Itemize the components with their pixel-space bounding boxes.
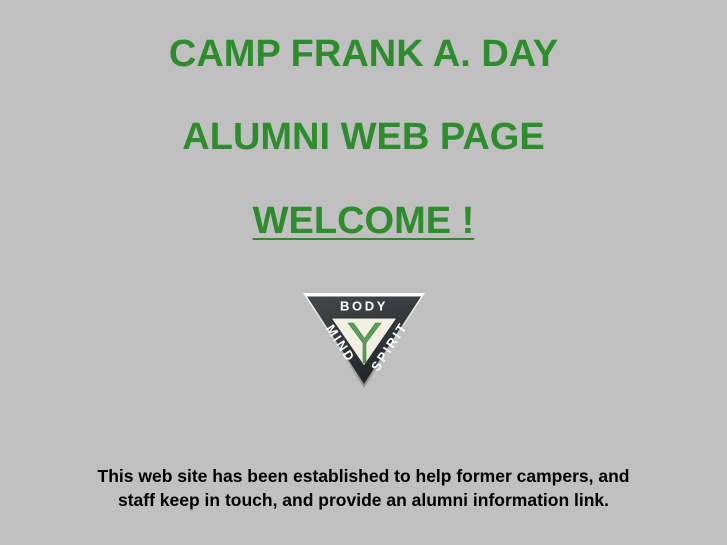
intro-paragraph-line-2: staff keep in touch, and provide an alum… bbox=[0, 488, 727, 512]
intro-paragraph-line-1: This web site has been established to he… bbox=[0, 464, 727, 488]
logo-word-body: BODY bbox=[340, 299, 388, 314]
ymca-triangle-logo: BODY MIND SPIRIT bbox=[301, 290, 427, 390]
page-title-line-1: CAMP FRANK A. DAY bbox=[0, 35, 727, 73]
page-title-line-2: ALUMNI WEB PAGE bbox=[0, 118, 727, 156]
logo-container: BODY MIND SPIRIT bbox=[0, 290, 727, 390]
intro-paragraph: This web site has been established to he… bbox=[0, 464, 727, 512]
welcome-heading: WELCOME ! bbox=[0, 202, 727, 240]
page-root: CAMP FRANK A. DAY ALUMNI WEB PAGE WELCOM… bbox=[0, 0, 727, 545]
welcome-heading-text: WELCOME ! bbox=[253, 200, 475, 242]
